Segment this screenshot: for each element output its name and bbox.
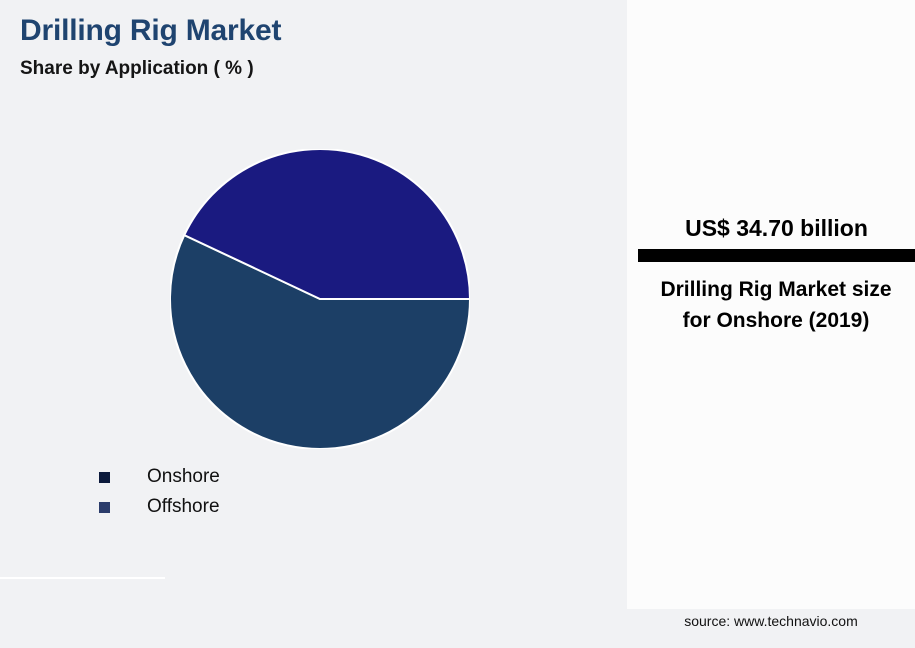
chart-panel: Drilling Rig Market Share by Application… [0, 0, 626, 648]
legend-swatch-icon [99, 472, 110, 483]
legend-item-offshore[interactable]: Offshore [99, 492, 220, 522]
chart-legend: Onshore Offshore [99, 462, 220, 522]
chart-subtitle: Share by Application ( % ) [20, 58, 254, 80]
kpi-caption: Drilling Rig Market size for Onshore (20… [645, 274, 907, 336]
legend-swatch-icon [99, 502, 110, 513]
kpi-value: US$ 34.70 billion [638, 215, 915, 242]
legend-item-label: Offshore [147, 496, 220, 518]
page-title: Drilling Rig Market [20, 14, 281, 48]
legend-item-label: Onshore [147, 466, 220, 488]
kpi-divider [638, 249, 915, 262]
pie-chart-svg [170, 149, 470, 449]
source-note: source: www.technavio.com [627, 613, 915, 629]
footer-divider [0, 577, 165, 579]
legend-item-onshore[interactable]: Onshore [99, 462, 220, 492]
pie-chart [170, 149, 470, 449]
kpi-card: US$ 34.70 billion Drilling Rig Market si… [627, 0, 915, 609]
